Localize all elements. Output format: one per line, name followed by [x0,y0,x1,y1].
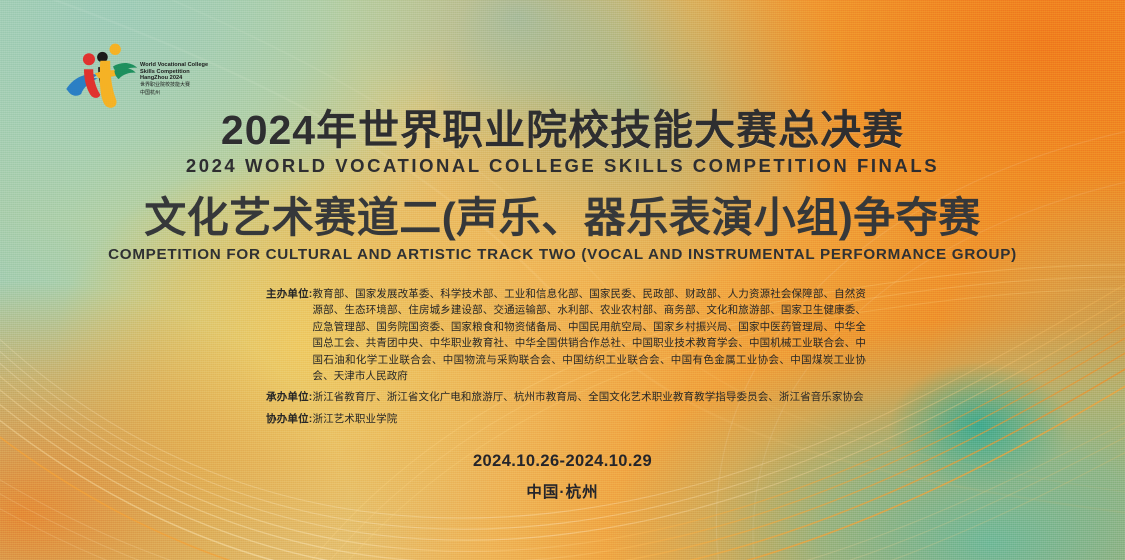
undertaker-value: 浙江省教育厅、浙江省文化广电和旅游厅、杭州市教育局、全国文化艺术职业教育教学指导… [313,389,867,405]
logo-line-2: Skills Competition [140,69,210,76]
coorganizer-value: 浙江艺术职业学院 [313,411,867,427]
logo-line-5: 中国杭州 [140,91,210,97]
undertaker-label: 承办单位: [266,389,313,405]
competition-logo[interactable]: World Vocational College Skills Competit… [62,38,207,116]
logo-wordmark: World Vocational College Skills Competit… [140,62,210,97]
subtitle-track-cn: 文化艺术赛道二(声乐、器乐表演小组)争夺赛 [0,195,1125,240]
organizer-row-host: 主办单位: 教育部、国家发展改革委、科学技术部、工业和信息化部、国家民委、民政部… [266,286,866,384]
logo-mark-icon [62,38,140,116]
host-label: 主办单位: [266,286,313,302]
coorganizer-label: 协办单位: [266,411,313,427]
organizer-row-coorganizer: 协办单位: 浙江艺术职业学院 [266,411,866,427]
logo-line-3: HangZhou 2024 [140,75,210,82]
organizers-block: 主办单位: 教育部、国家发展改革委、科学技术部、工业和信息化部、国家民委、民政部… [266,286,866,427]
logo-line-4: 世界职业院校技能大赛 [140,83,210,89]
footer-block: 2024.10.26-2024.10.29 中国·杭州 [0,452,1125,502]
organizer-row-undertaker: 承办单位: 浙江省教育厅、浙江省文化广电和旅游厅、杭州市教育局、全国文化艺术职业… [266,389,866,405]
host-value: 教育部、国家发展改革委、科学技术部、工业和信息化部、国家民委、民政部、财政部、人… [313,286,867,384]
main-title-cn: 2024年世界职业院校技能大赛总决赛 [0,108,1125,152]
main-title-en: 2024 WORLD VOCATIONAL COLLEGE SKILLS COM… [0,155,1125,177]
title-area: 2024年世界职业院校技能大赛总决赛 2024 WORLD VOCATIONAL… [0,108,1125,263]
event-date: 2024.10.26-2024.10.29 [0,452,1125,471]
event-location: 中国·杭州 [0,480,1125,502]
poster-canvas: World Vocational College Skills Competit… [0,0,1125,560]
subtitle-track-en: COMPETITION FOR CULTURAL AND ARTISTIC TR… [0,246,1125,263]
logo-line-1: World Vocational College [140,62,210,69]
